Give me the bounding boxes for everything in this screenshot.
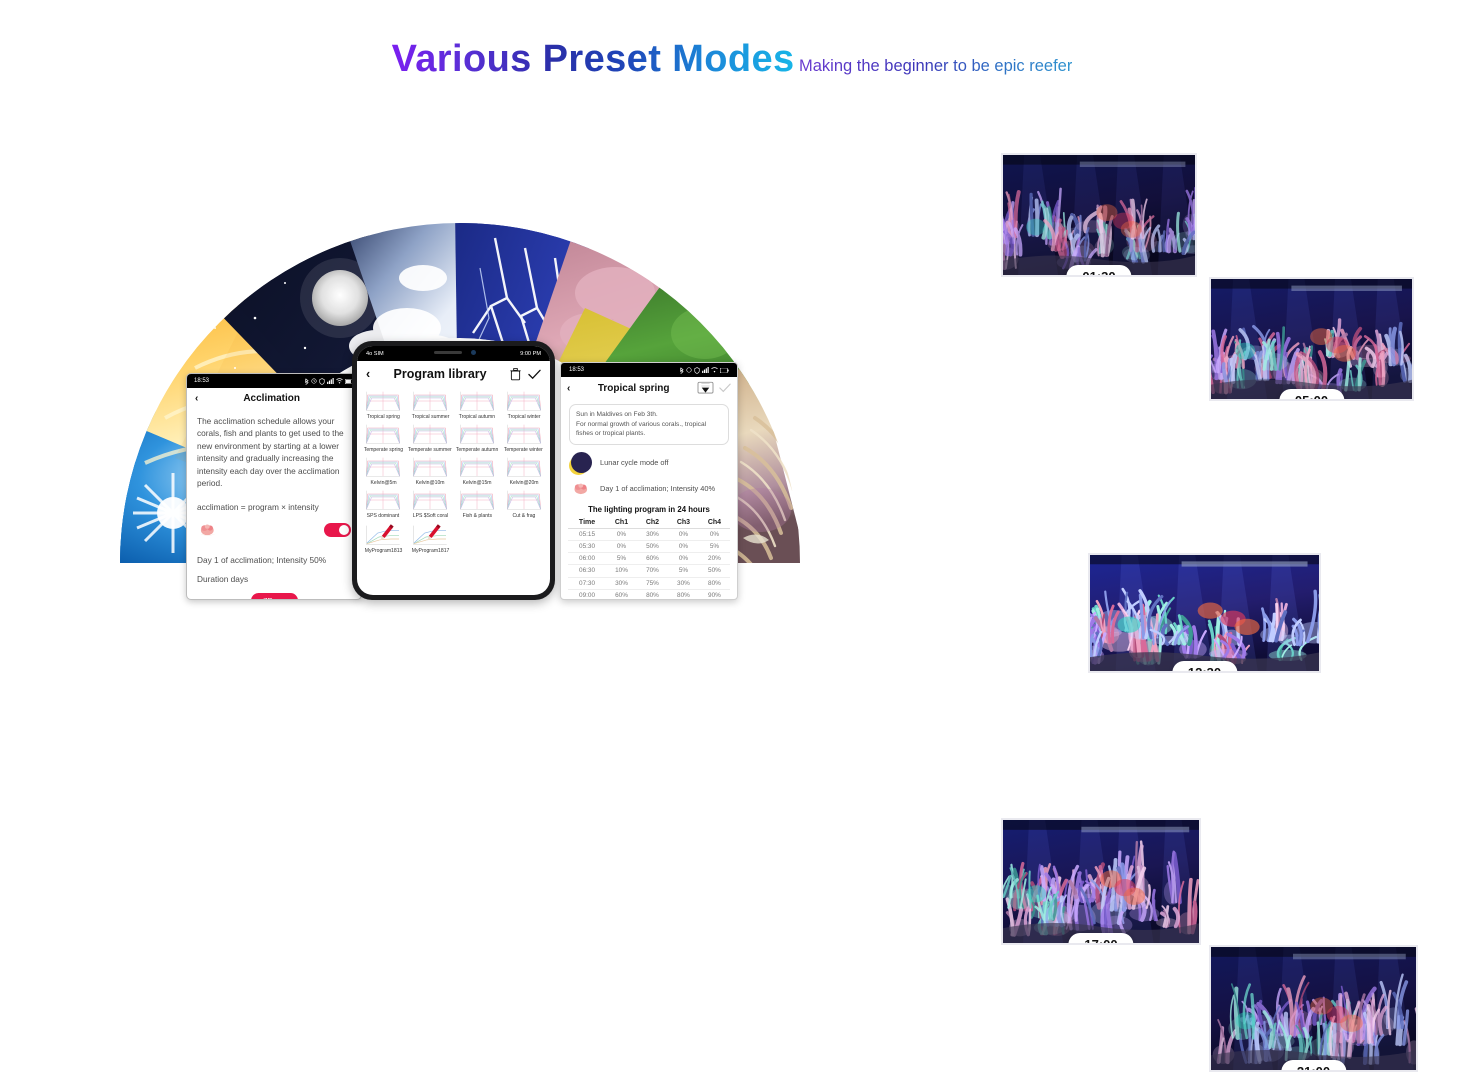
table-cell: 09:00 <box>568 589 606 600</box>
table-cell: 30% <box>606 577 637 589</box>
preset-label: Temperate spring <box>364 447 403 453</box>
table-header-cell: Ch2 <box>637 517 668 529</box>
page-header: Various Preset Modes Making the beginner… <box>0 0 1464 81</box>
tank-photo-0130[interactable]: 01:30 <box>1001 153 1197 277</box>
nav-bar: ‹ Tropical spring <box>561 377 737 399</box>
time-badge: 12:30 <box>1172 661 1237 673</box>
preset-item[interactable]: Cut & frag <box>502 488 546 519</box>
status-time: 9:00 PM <box>520 351 541 357</box>
preset-label: Temperate autumn <box>456 447 498 453</box>
lunar-cycle-row[interactable]: Lunar cycle mode off <box>571 452 737 473</box>
status-icons <box>679 367 729 374</box>
lunar-cycle-label: Lunar cycle mode off <box>600 458 668 467</box>
moon-icon <box>571 452 592 473</box>
screen-title: Acclimation <box>198 393 345 404</box>
table-cell: 70% <box>637 565 668 577</box>
preset-item[interactable]: Kelvin@20m <box>502 455 546 486</box>
table-cell: 05:30 <box>568 540 606 552</box>
acclimation-toggle-row <box>197 521 351 538</box>
screen-title: Tropical spring <box>570 383 697 394</box>
table-cell: 80% <box>699 577 730 589</box>
preset-label: Kelvin@10m <box>416 480 445 486</box>
table-header-row: TimeCh1Ch2Ch3Ch4 <box>568 517 730 529</box>
table-cell: 0% <box>606 540 637 552</box>
acclimation-formula: acclimation = program × intensity <box>197 502 351 512</box>
reef-illustration <box>1003 155 1195 275</box>
nav-bar: ‹ Program library <box>357 361 550 387</box>
bluetooth-icon <box>304 378 309 385</box>
preset-label: Cut & frag <box>512 513 535 519</box>
preset-label: Fish & plants <box>463 513 492 519</box>
table-cell: 30% <box>668 577 699 589</box>
table-cell: 30% <box>637 528 668 540</box>
preset-item[interactable]: Kelvin@10m <box>407 455 453 486</box>
lighting-program-title: The lighting program in 24 hours <box>561 505 737 514</box>
reef-illustration <box>1211 279 1412 399</box>
table-cell: 20% <box>699 553 730 565</box>
preset-label: Temperate summer <box>408 447 452 453</box>
reef-illustration <box>1003 820 1199 943</box>
page-title: Various Preset Modes <box>392 38 795 81</box>
table-cell: 05:15 <box>568 528 606 540</box>
preset-item[interactable]: Fish & plants <box>455 488 499 519</box>
custom-preset-grid: MyProgram1813MyProgram1817 <box>357 521 550 556</box>
screen-title: Program library <box>370 367 510 381</box>
description-line-1: Sun in Maldives on Feb 3th. <box>576 410 722 420</box>
custom-preset-item[interactable]: MyProgram1813 <box>361 523 406 554</box>
table-cell: 50% <box>637 540 668 552</box>
status-sim-label: 4o SIM <box>366 351 384 357</box>
signal-icon <box>327 378 334 384</box>
confirm-check-icon[interactable] <box>719 383 731 393</box>
download-preset-icon[interactable] <box>697 381 714 396</box>
time-badge: 01:30 <box>1066 265 1131 277</box>
table-cell: 10% <box>606 565 637 577</box>
status-bar: 18:53 <box>187 374 361 388</box>
preset-item[interactable]: Tropical summer <box>407 389 453 420</box>
preset-label: Kelvin@15m <box>463 480 492 486</box>
table-cell: 0% <box>668 528 699 540</box>
preset-item[interactable]: Tropical spring <box>361 389 405 420</box>
time-badge: 17:00 <box>1068 933 1133 945</box>
custom-preset-label: MyProgram1817 <box>411 548 449 554</box>
table-header-cell: Time <box>568 517 606 529</box>
wifi-icon <box>711 367 718 373</box>
table-cell: 5% <box>699 540 730 552</box>
time-badge: 21:00 <box>1281 1060 1346 1072</box>
preset-label: Tropical autumn <box>459 414 495 420</box>
table-row: 05:150%30%0%0% <box>568 528 730 540</box>
preset-item[interactable]: LPS $Soft coral <box>407 488 453 519</box>
bluetooth-icon <box>679 367 684 374</box>
phone-program-library-screen: 4o SIM 9:00 PM ‹ Program library Tropica… <box>352 341 555 600</box>
alarm-icon <box>311 378 317 384</box>
table-cell: 07:30 <box>568 577 606 589</box>
status-bar: 4o SIM 9:00 PM <box>357 346 550 361</box>
preset-item[interactable]: Kelvin@15m <box>455 455 499 486</box>
shield-icon <box>694 367 700 374</box>
preset-label: Temperate winter <box>504 447 543 453</box>
table-cell: 0% <box>668 540 699 552</box>
acclimation-toggle[interactable] <box>324 523 351 537</box>
battery-icon <box>720 368 729 373</box>
table-row: 09:0060%80%80%90% <box>568 589 730 600</box>
acclimation-row[interactable]: Day 1 of acclimation; Intensity 40% <box>571 480 737 497</box>
alarm-icon <box>686 367 692 373</box>
table-cell: 75% <box>637 577 668 589</box>
reef-illustration <box>1090 555 1319 671</box>
status-time: 18:53 <box>569 367 584 373</box>
acclimation-day-line: Day 1 of acclimation; Intensity 50% <box>197 555 351 565</box>
reef-illustration <box>1211 947 1416 1070</box>
trash-icon[interactable] <box>510 368 521 381</box>
preset-item[interactable]: Tropical winter <box>502 389 546 420</box>
acclimation-label: Day 1 of acclimation; Intensity 40% <box>600 484 715 493</box>
confirm-check-icon[interactable] <box>528 369 541 380</box>
table-cell: 0% <box>699 528 730 540</box>
tank-photo-1230[interactable]: 12:30 <box>1088 553 1321 673</box>
tank-photo-2100[interactable]: 21:00 <box>1209 945 1418 1072</box>
status-time: 18:53 <box>194 378 209 384</box>
preset-item[interactable]: Tropical autumn <box>455 389 499 420</box>
table-cell: 0% <box>668 553 699 565</box>
preset-label: SPS dominant <box>367 513 400 519</box>
table-cell: 06:00 <box>568 553 606 565</box>
phone-acclimation-screen: 18:53 ‹ Acclimation The acclimation sche… <box>186 373 362 600</box>
table-header-cell: Ch3 <box>668 517 699 529</box>
preset-label: LPS $Soft coral <box>413 513 448 519</box>
wifi-icon <box>336 378 343 384</box>
phone-tropical-spring-screen: 18:53 ‹ Tropical spring Sun in Maldives … <box>560 362 738 600</box>
status-bar: 18:53 <box>561 363 737 377</box>
table-cell: 06:30 <box>568 565 606 577</box>
signal-icon <box>702 367 709 373</box>
time-badge: 05:00 <box>1279 389 1344 401</box>
description-line-3: fishes or tropical plants. <box>576 429 722 439</box>
table-header-cell: Ch4 <box>699 517 730 529</box>
description-line-2: For normal growth of various corals., tr… <box>576 420 722 430</box>
preset-label: Tropical winter <box>507 414 540 420</box>
coral-icon <box>197 521 219 538</box>
table-row: 05:300%50%0%5% <box>568 540 730 552</box>
table-cell: 90% <box>699 589 730 600</box>
acclimation-description: The acclimation schedule allows your cor… <box>197 415 351 489</box>
preset-label: Tropical summer <box>411 414 449 420</box>
duration-days-value[interactable]: 7Days <box>251 593 298 600</box>
table-header-cell: Ch1 <box>606 517 637 529</box>
preset-item[interactable]: Temperate spring <box>361 422 405 453</box>
duration-days-label: Duration days <box>197 574 351 584</box>
table-cell: 60% <box>637 553 668 565</box>
table-row: 06:005%60%0%20% <box>568 553 730 565</box>
table-cell: 5% <box>606 553 637 565</box>
preset-label: Kelvin@20m <box>509 480 538 486</box>
status-icons <box>304 378 354 385</box>
preset-item[interactable]: SPS dominant <box>361 488 405 519</box>
table-cell: 0% <box>606 528 637 540</box>
table-cell: 80% <box>637 589 668 600</box>
preset-label: Tropical spring <box>367 414 400 420</box>
page-subtitle: Making the beginner to be epic reefer <box>799 57 1072 76</box>
tank-photo-1700[interactable]: 17:00 <box>1001 818 1201 945</box>
nav-bar: ‹ Acclimation <box>187 388 361 409</box>
preset-item[interactable]: Kelvin@5m <box>361 455 405 486</box>
lighting-program-table: TimeCh1Ch2Ch3Ch4 05:150%30%0%0%05:300%50… <box>568 517 730 600</box>
phone-notch <box>418 346 490 360</box>
preset-grid: Tropical springTropical summerTropical a… <box>357 387 550 521</box>
table-cell: 5% <box>668 565 699 577</box>
preset-item[interactable]: Temperate autumn <box>455 422 499 453</box>
table-cell: 60% <box>606 589 637 600</box>
tank-photo-0500[interactable]: 05:00 <box>1209 277 1414 401</box>
table-row: 07:3030%75%30%80% <box>568 577 730 589</box>
table-cell: 50% <box>699 565 730 577</box>
coral-icon <box>571 480 592 497</box>
preset-description-box: Sun in Maldives on Feb 3th. For normal g… <box>569 404 729 445</box>
table-cell: 80% <box>668 589 699 600</box>
table-row: 06:3010%70%5%50% <box>568 565 730 577</box>
preset-item[interactable]: Temperate summer <box>407 422 453 453</box>
shield-icon <box>319 378 325 385</box>
preset-item[interactable]: Temperate winter <box>502 422 546 453</box>
custom-preset-item[interactable]: MyProgram1817 <box>408 523 453 554</box>
custom-preset-label: MyProgram1813 <box>365 548 403 554</box>
preset-label: Kelvin@5m <box>370 480 396 486</box>
